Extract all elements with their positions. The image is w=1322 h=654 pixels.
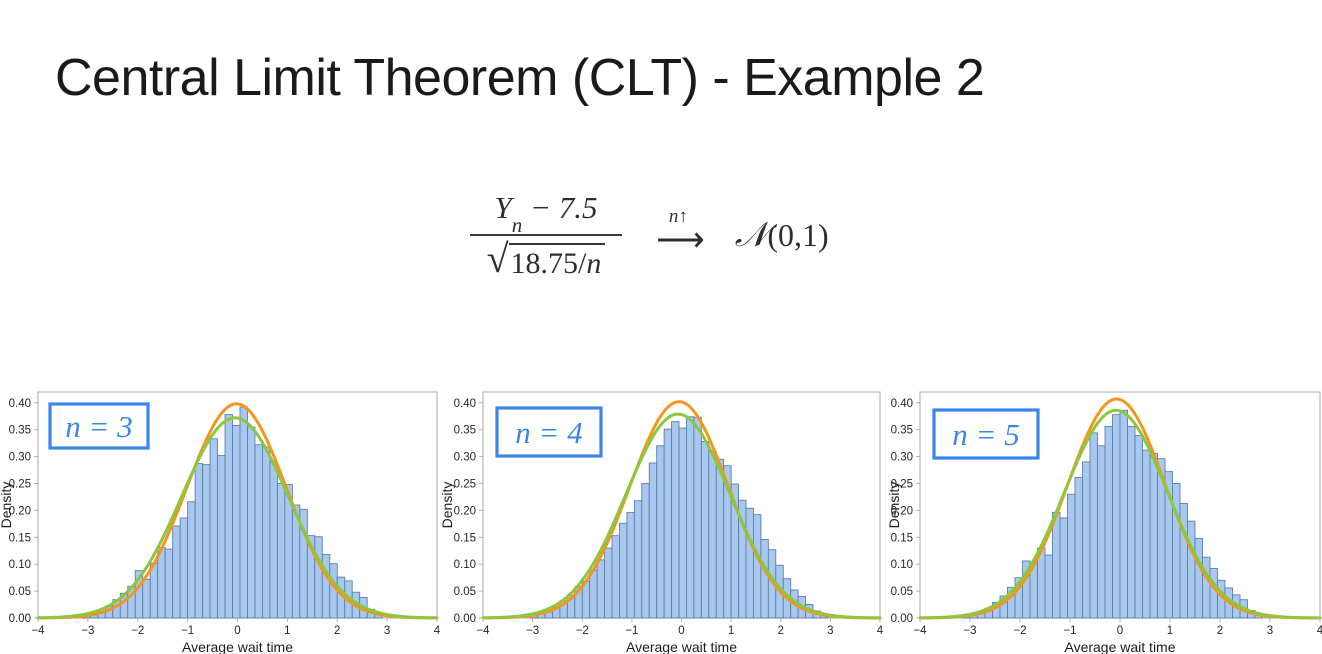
x-tick-label: 2 bbox=[334, 625, 340, 637]
histogram-bar bbox=[709, 451, 716, 618]
histogram-bar bbox=[165, 549, 172, 618]
x-tick-label: −2 bbox=[131, 625, 144, 637]
y-tick-label: 0.10 bbox=[891, 559, 913, 571]
histogram-bar bbox=[173, 526, 180, 618]
histogram-bar bbox=[701, 442, 708, 618]
x-axis-title: Average wait time bbox=[182, 639, 293, 654]
histogram-bar bbox=[649, 463, 656, 618]
histogram-bar bbox=[1075, 478, 1083, 618]
histogram-bar bbox=[612, 536, 619, 618]
x-tick-label: −4 bbox=[31, 625, 45, 637]
histogram-bar bbox=[150, 563, 157, 618]
formula-radicand: 18.75 bbox=[511, 247, 579, 280]
histogram-bar bbox=[255, 445, 262, 618]
histogram-bar bbox=[1068, 494, 1076, 618]
histogram-bar bbox=[672, 422, 679, 618]
y-tick-label: 0.00 bbox=[454, 613, 476, 625]
square-root-icon: √ 18.75/n bbox=[487, 241, 606, 281]
x-axis-title: Average wait time bbox=[1064, 639, 1175, 654]
x-tick-label: 4 bbox=[1317, 625, 1322, 637]
histogram-bar bbox=[627, 513, 634, 618]
x-tick-label: 2 bbox=[778, 625, 784, 637]
y-axis-title: Density bbox=[441, 482, 455, 529]
normal-distribution-args: (0,1) bbox=[767, 217, 828, 253]
histogram-bar bbox=[188, 502, 195, 618]
y-tick-label: 0.10 bbox=[454, 559, 476, 571]
formula-denominator: √ 18.75/n bbox=[477, 236, 616, 281]
right-arrow-icon: ⟶ bbox=[656, 224, 701, 258]
histogram-bar bbox=[746, 508, 753, 618]
histogram-bar bbox=[143, 579, 150, 618]
histogram-bar bbox=[619, 523, 626, 618]
histogram-bar bbox=[1113, 415, 1121, 618]
histogram-bar bbox=[277, 483, 284, 618]
formula-numerator-subscript: n bbox=[512, 213, 523, 237]
histogram-bar bbox=[203, 465, 210, 618]
x-tick-label: 1 bbox=[728, 625, 734, 637]
formula-numerator-rest: − 7.5 bbox=[522, 190, 597, 225]
histogram-bar bbox=[634, 501, 641, 618]
y-tick-label: 0.35 bbox=[9, 425, 31, 437]
histogram-bar bbox=[1090, 433, 1098, 618]
histogram-bar bbox=[753, 515, 760, 618]
histogram-bar bbox=[225, 415, 232, 618]
histogram-bar bbox=[195, 464, 202, 618]
histogram-bar bbox=[657, 446, 664, 618]
x-tick-label: 1 bbox=[284, 625, 290, 637]
histogram-bar bbox=[1045, 555, 1053, 618]
formula-denominator-variable: n bbox=[586, 247, 601, 280]
y-tick-label: 0.20 bbox=[454, 505, 476, 517]
histogram-bar bbox=[605, 548, 612, 618]
histogram-bar bbox=[315, 537, 322, 618]
histogram-bar bbox=[679, 428, 686, 618]
formula-limit: 𝒩(0,1) bbox=[735, 217, 829, 255]
x-tick-label: 4 bbox=[434, 625, 440, 637]
x-tick-label: −4 bbox=[913, 625, 927, 637]
x-tick-label: 0 bbox=[234, 625, 240, 637]
y-tick-label: 0.40 bbox=[891, 398, 913, 410]
y-tick-label: 0.15 bbox=[891, 532, 913, 544]
x-tick-label: −2 bbox=[576, 625, 589, 637]
sample-size-label: n = 5 bbox=[952, 417, 1019, 452]
histogram-bar bbox=[1060, 518, 1068, 618]
sample-size-label: n = 4 bbox=[515, 415, 582, 450]
histogram-bar bbox=[1120, 410, 1128, 618]
x-tick-label: 0 bbox=[678, 625, 684, 637]
y-tick-label: 0.15 bbox=[9, 532, 31, 544]
x-tick-label: 3 bbox=[384, 625, 390, 637]
x-tick-label: 0 bbox=[1117, 625, 1123, 637]
x-tick-label: −2 bbox=[1013, 625, 1026, 637]
y-axis-title: Density bbox=[0, 482, 14, 529]
clt-formula: Yn − 7.5 √ 18.75/n n↑ ⟶ 𝒩(0,1) bbox=[470, 190, 829, 281]
convergence-arrow: n↑ ⟶ bbox=[656, 206, 701, 258]
histogram-bar bbox=[664, 429, 671, 618]
x-tick-label: −1 bbox=[1063, 625, 1076, 637]
histogram-bar bbox=[180, 518, 187, 618]
x-axis-title: Average wait time bbox=[626, 639, 737, 654]
histogram-chart-n=4: −4−3−2−1012340.000.050.100.150.200.250.3… bbox=[441, 380, 883, 654]
x-tick-label: −3 bbox=[526, 625, 539, 637]
histogram-bar bbox=[694, 417, 701, 618]
slide-canvas: Central Limit Theorem (CLT) - Example 2 … bbox=[0, 0, 1322, 654]
formula-numerator-variable: Y bbox=[495, 190, 512, 225]
x-tick-label: 3 bbox=[1267, 625, 1273, 637]
y-tick-label: 0.30 bbox=[454, 452, 476, 464]
histogram-bar bbox=[262, 447, 269, 618]
histogram-bar bbox=[158, 548, 165, 618]
histogram-bar bbox=[597, 560, 604, 618]
histogram-bar bbox=[210, 439, 217, 618]
x-tick-label: 3 bbox=[827, 625, 833, 637]
x-tick-label: 4 bbox=[877, 625, 883, 637]
histogram-bar bbox=[642, 483, 649, 618]
histogram-bar bbox=[233, 425, 240, 618]
y-tick-label: 0.40 bbox=[454, 398, 476, 410]
formula-numerator: Yn − 7.5 bbox=[485, 190, 608, 234]
histogram-bar bbox=[1180, 503, 1188, 618]
y-tick-label: 0.10 bbox=[9, 559, 31, 571]
sample-size-label: n = 3 bbox=[65, 409, 132, 444]
y-tick-label: 0.40 bbox=[9, 398, 31, 410]
x-tick-label: −1 bbox=[181, 625, 194, 637]
x-tick-label: −3 bbox=[963, 625, 976, 637]
histogram-chart-n=3: −4−3−2−1012340.000.050.100.150.200.250.3… bbox=[0, 380, 440, 654]
formula-fraction: Yn − 7.5 √ 18.75/n bbox=[470, 190, 622, 281]
histogram-bar bbox=[322, 555, 329, 618]
histogram-bar bbox=[686, 417, 693, 618]
histogram-bar bbox=[1105, 426, 1113, 618]
histogram-bar bbox=[218, 455, 225, 618]
x-tick-label: −1 bbox=[625, 625, 638, 637]
y-tick-label: 0.05 bbox=[891, 586, 913, 598]
y-tick-label: 0.00 bbox=[9, 613, 31, 625]
y-tick-label: 0.05 bbox=[454, 586, 476, 598]
x-tick-label: 1 bbox=[1167, 625, 1173, 637]
x-tick-label: −4 bbox=[476, 625, 490, 637]
histogram-bar bbox=[590, 570, 597, 618]
x-tick-label: −3 bbox=[81, 625, 94, 637]
y-axis-title: Density bbox=[888, 482, 902, 529]
histogram-bar bbox=[240, 407, 247, 618]
y-tick-label: 0.35 bbox=[454, 425, 476, 437]
y-tick-label: 0.25 bbox=[454, 478, 476, 490]
y-tick-label: 0.30 bbox=[9, 452, 31, 464]
histogram-bar bbox=[716, 459, 723, 618]
histogram-bar bbox=[270, 462, 277, 618]
histogram-bar bbox=[1195, 538, 1203, 618]
histogram-bar bbox=[761, 539, 768, 618]
y-tick-label: 0.35 bbox=[891, 425, 913, 437]
y-tick-label: 0.05 bbox=[9, 586, 31, 598]
histogram-bar bbox=[1083, 462, 1091, 618]
histogram-bar bbox=[1128, 426, 1136, 618]
x-tick-label: 2 bbox=[1217, 625, 1223, 637]
histogram-bar bbox=[1098, 446, 1106, 618]
histogram-bar bbox=[247, 427, 254, 618]
histogram-bar bbox=[1135, 436, 1143, 618]
histogram-bar bbox=[1188, 521, 1196, 618]
normal-distribution-symbol: 𝒩 bbox=[735, 217, 768, 254]
y-tick-label: 0.15 bbox=[454, 532, 476, 544]
histogram-bar bbox=[1053, 513, 1061, 618]
y-tick-label: 0.30 bbox=[891, 452, 913, 464]
histogram-chart-n=5: −4−3−2−1012340.000.050.100.150.200.250.3… bbox=[888, 380, 1322, 654]
page-title: Central Limit Theorem (CLT) - Example 2 bbox=[55, 48, 984, 108]
histogram-bar bbox=[1150, 453, 1158, 618]
histogram-bar bbox=[1143, 450, 1151, 618]
y-tick-label: 0.00 bbox=[891, 613, 913, 625]
histogram-bar bbox=[1210, 568, 1218, 618]
